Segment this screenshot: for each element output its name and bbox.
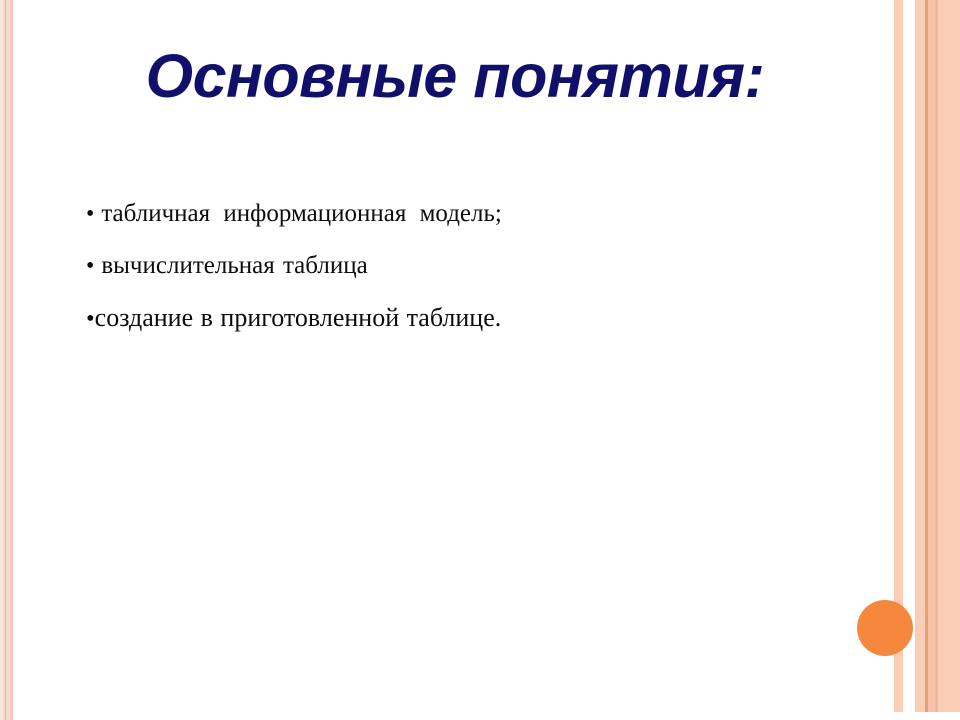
- bullet-item-text: создание в приготовленной таблице.: [95, 303, 502, 332]
- left-border-decoration: [0, 0, 14, 720]
- slide-body-bullet-list: •табличная информационная модель; •вычис…: [86, 188, 846, 345]
- bullet-list-item: •создание в приготовленной таблице.: [86, 292, 846, 345]
- bullet-list-item: •вычислительная таблица: [86, 240, 846, 292]
- right-border-band-3: [928, 0, 935, 712]
- slide-title: Основные понятия:: [60, 40, 850, 112]
- right-border-band-1: [915, 0, 925, 712]
- left-border-stripe-6: [13, 0, 14, 720]
- orange-accent-circle: [857, 600, 913, 656]
- bullet-list-item: •табличная информационная модель;: [86, 188, 846, 240]
- right-border-band-5: [938, 0, 960, 712]
- bullet-item-text: вычислительная таблица: [101, 252, 367, 279]
- bullet-marker-icon: •: [86, 240, 101, 292]
- bullet-item-text: табличная информационная модель;: [101, 200, 502, 227]
- bullet-marker-icon: •: [86, 188, 101, 240]
- right-border-bottom-margin: [894, 712, 960, 720]
- slide-canvas: Основные понятия: •табличная информацион…: [0, 0, 960, 720]
- bullet-marker-icon: •: [86, 293, 95, 345]
